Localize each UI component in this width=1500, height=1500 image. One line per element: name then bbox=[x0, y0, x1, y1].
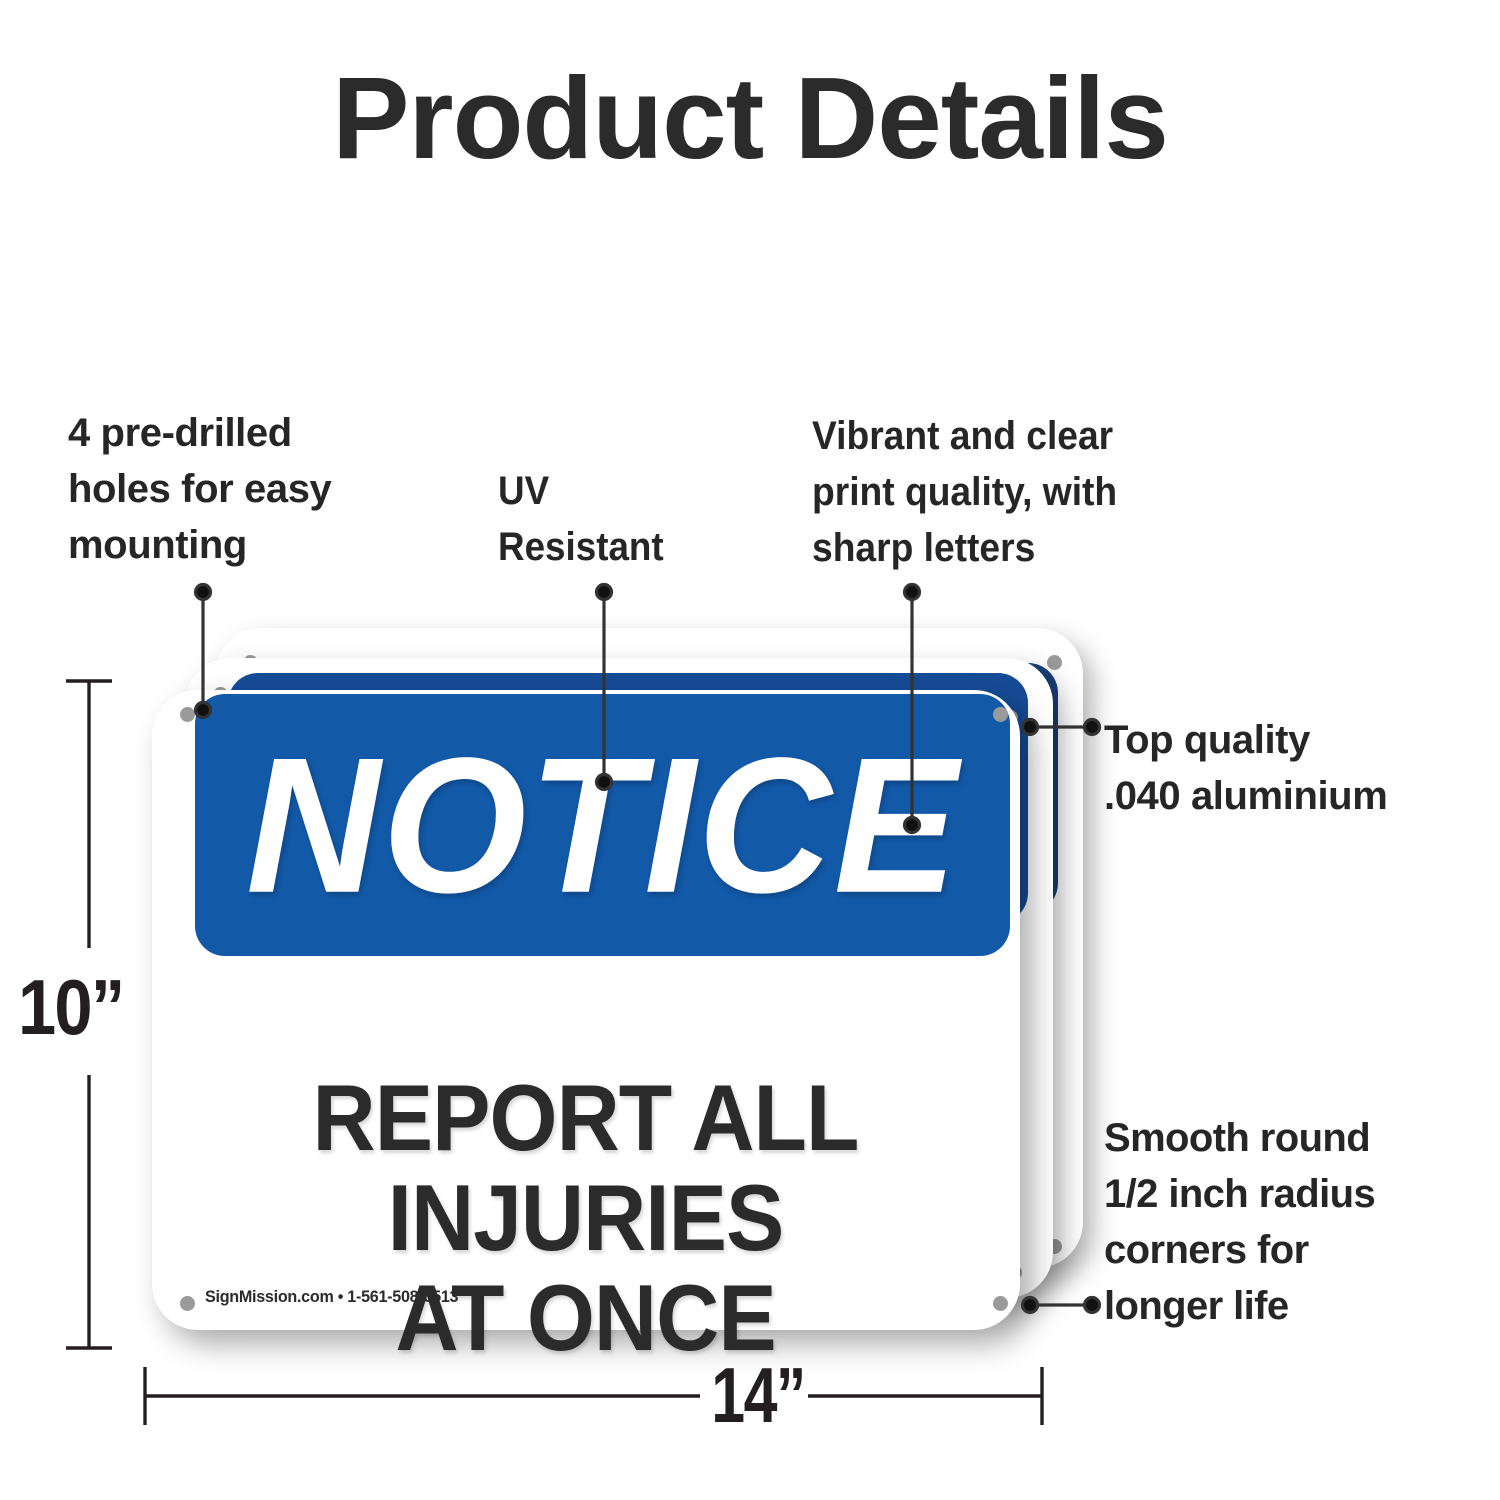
notice-banner: NOTICE bbox=[195, 694, 1010, 956]
callout-label-pre-drilled-holes: 4 pre-drilled holes for easy mounting bbox=[68, 405, 448, 573]
sign-message-text: REPORT ALL INJURIES AT ONCE bbox=[313, 1068, 859, 1368]
callout-label-print-quality: Vibrant and clear print quality, with sh… bbox=[812, 408, 1231, 576]
sign-message: REPORT ALL INJURIES AT ONCE bbox=[160, 968, 1012, 1368]
sign-footer-text: SignMission.com • 1-561-508-6513 bbox=[205, 1287, 458, 1307]
callout-label-rounded-corners: Smooth round 1/2 inch radius corners for… bbox=[1104, 1110, 1500, 1334]
mounting-hole-back-topright bbox=[1047, 655, 1062, 670]
mounting-hole-front-topright bbox=[993, 707, 1008, 722]
dimension-label-width: 14” bbox=[711, 1356, 804, 1434]
callout-label-aluminium: Top quality .040 aluminium bbox=[1104, 712, 1500, 824]
mounting-hole-front-topleft bbox=[180, 707, 195, 722]
notice-header-text: NOTICE bbox=[246, 729, 960, 922]
dimension-label-height: 10” bbox=[18, 968, 123, 1046]
mounting-hole-front-bottomleft bbox=[180, 1296, 195, 1311]
callout-label-uv-resistant: UV Resistant bbox=[498, 463, 728, 575]
mounting-hole-front-bottomright bbox=[993, 1296, 1008, 1311]
